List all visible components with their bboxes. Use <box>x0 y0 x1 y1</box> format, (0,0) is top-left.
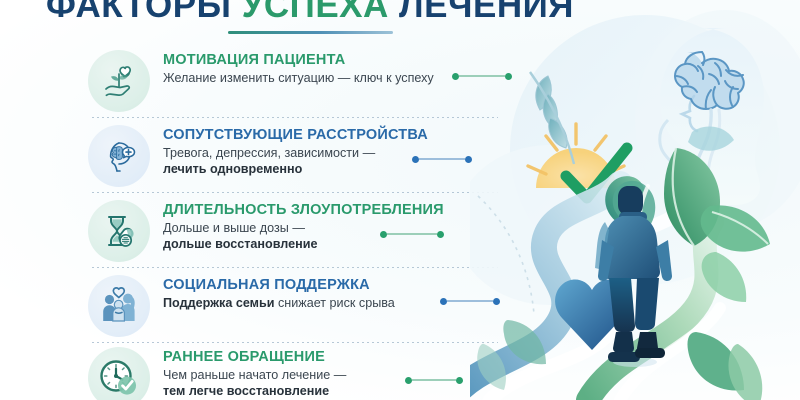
infographic-canvas: ФАКТОРЫ УСПЕХА ЛЕЧЕНИЯ <box>0 0 800 400</box>
connector-bar <box>419 158 465 160</box>
hourglass-pill-icon <box>88 200 150 262</box>
list-item[interactable]: ДЛИТЕЛЬНОСТЬ ЗЛОУПОТРЕБЛЕНИЯ Дольше и вы… <box>0 192 540 267</box>
connector-dot-left <box>405 377 412 384</box>
factor-desc-line1: Дольше и выше дозы — <box>163 221 305 235</box>
factor-desc-line1: Чем раньше начато лечение — <box>163 368 346 382</box>
list-item[interactable]: РАННЕЕ ОБРАЩЕНИЕ Чем раньше начато лечен… <box>0 342 540 400</box>
head-brain-plus-icon <box>88 125 150 187</box>
row-connector <box>412 155 472 163</box>
list-item[interactable]: СОПУТСТВУЮЩИЕ РАССТРОЙСТВА Тревога, депр… <box>0 117 540 192</box>
family-heart-icon <box>88 275 150 337</box>
connector-dot-left <box>412 156 419 163</box>
factor-desc-bold: Поддержка семьи <box>163 296 274 310</box>
list-item[interactable]: МОТИВАЦИЯ ПАЦИЕНТА Желание изменить ситу… <box>0 42 540 117</box>
connector-dot-right <box>437 231 444 238</box>
row-divider <box>92 117 498 118</box>
list-item[interactable]: СОЦИАЛЬНАЯ ПОДДЕРЖКА Поддержка семьи сни… <box>0 267 540 342</box>
connector-dot-left <box>440 298 447 305</box>
row-connector <box>405 376 463 384</box>
recovery-path-illustration <box>470 0 800 400</box>
connector-dot-left <box>380 231 387 238</box>
factor-desc-line1: Желание изменить ситуацию — ключ к успех… <box>163 71 434 85</box>
factors-list: МОТИВАЦИЯ ПАЦИЕНТА Желание изменить ситу… <box>0 42 540 400</box>
row-divider <box>92 192 498 193</box>
row-divider <box>92 267 498 268</box>
factor-desc-line1: Тревога, депрессия, зависимости — <box>163 146 375 160</box>
title-word-faktory: ФАКТОРЫ <box>46 0 231 25</box>
title-word-uspeha: УСПЕХА <box>242 0 389 25</box>
connector-bar <box>412 379 456 381</box>
title-underline <box>228 31 393 34</box>
row-divider <box>92 342 498 343</box>
factor-desc-line1: снижает риск срыва <box>274 296 394 310</box>
connector-dot-left <box>452 73 459 80</box>
row-connector <box>380 230 444 238</box>
clock-check-icon <box>88 347 150 400</box>
hand-plant-heart-icon <box>88 50 150 112</box>
connector-bar <box>387 233 437 235</box>
connector-dot-right <box>456 377 463 384</box>
